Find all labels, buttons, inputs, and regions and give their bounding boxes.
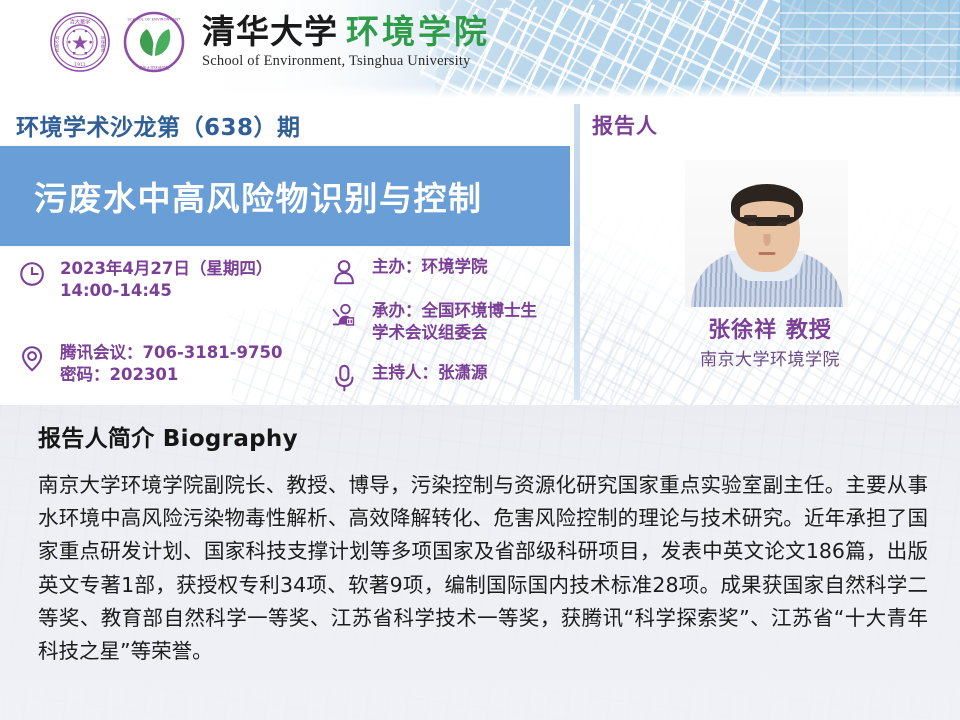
detail-organizer-line2: 学术会议组委会	[372, 322, 537, 344]
detail-venue-line1: 腾讯会议：706-3181-9750	[60, 342, 282, 364]
detail-organizer-line1: 承办：全国环境博士生	[372, 300, 537, 322]
detail-host-text: 主办：环境学院	[372, 256, 488, 278]
hero-bottom-fade	[0, 84, 960, 100]
portrait-hair	[731, 184, 803, 226]
svg-text:厚德载物: 厚德载物	[100, 36, 107, 53]
detail-organizer-text: 承办：全国环境博士生 学术会议组委会	[372, 300, 537, 344]
detail-time-line2: 14:00-14:45	[60, 280, 272, 302]
detail-host-line1: 主办：环境学院	[372, 256, 488, 278]
speaker-portrait	[685, 160, 848, 307]
svg-text:清大華学: 清大華学	[70, 18, 91, 26]
detail-moderator-text: 主持人：张潇源	[372, 362, 488, 384]
speaker-name: 张徐祥 教授	[580, 312, 960, 344]
biography-title: 报告人简介 Biography	[38, 419, 928, 453]
portrait-brow-right	[777, 215, 790, 218]
detail-host: 主办：环境学院	[330, 256, 488, 288]
biography-content: 报告人简介 Biography 南京大学环境学院副院长、教授、博导，污染控制与资…	[38, 419, 928, 668]
svg-text:清华大学环境学院: 清华大学环境学院	[138, 65, 169, 70]
portrait-mouth	[758, 252, 775, 255]
logo-english-name: School of Environment, Tsinghua Universi…	[202, 53, 490, 70]
detail-time-line1: 2023年4月27日（星期四）	[60, 258, 272, 280]
detail-moderator-line1: 主持人：张潇源	[372, 362, 488, 384]
logo-row: 清大華学 1911 自强不息 厚德载物 SCHOOL OF ENVIRONMEN…	[48, 10, 490, 74]
detail-organizer: 承办：全国环境博士生 学术会议组委会	[330, 300, 537, 344]
school-of-environment-seal-icon: SCHOOL OF ENVIRONMENT 清华大学环境学院	[122, 10, 186, 74]
svg-text:自强不息: 自强不息	[54, 36, 61, 53]
portrait-nose	[763, 234, 770, 246]
detail-time-text: 2023年4月27日（星期四） 14:00-14:45	[60, 258, 272, 302]
portrait-brow-left	[744, 215, 757, 218]
tsinghua-university-seal-icon: 清大華学 1911 自强不息 厚德载物	[48, 10, 112, 74]
seminar-poster: 清大華学 1911 自强不息 厚德载物 SCHOOL OF ENVIRONMEN…	[0, 0, 960, 720]
presenter-icon	[330, 300, 360, 332]
seminar-issue-line: 环境学术沙龙第（638）期	[16, 108, 301, 142]
speaker-panel: 报告人 张徐祥 教授 南京大学环境学院	[580, 100, 960, 405]
clock-icon	[18, 258, 48, 290]
portrait-eye-left	[747, 222, 756, 226]
detail-time: 2023年4月27日（星期四） 14:00-14:45	[18, 258, 272, 302]
speaker-section-label: 报告人	[592, 110, 658, 140]
svg-text:1911: 1911	[74, 62, 86, 68]
detail-venue: 腾讯会议：706-3181-9750 密码：202301	[18, 342, 282, 386]
details-grid: 2023年4月27日（星期四） 14:00-14:45 腾讯会议：706-318…	[0, 252, 575, 402]
svg-text:SCHOOL OF ENVIRONMENT: SCHOOL OF ENVIRONMENT	[127, 17, 181, 22]
logo-school-name: 环境学院	[346, 15, 490, 48]
detail-moderator: 主持人：张潇源	[330, 362, 488, 394]
logo-wordmark: 清华大学 环境学院 School of Environment, Tsinghu…	[202, 15, 490, 70]
microphone-icon	[330, 362, 360, 394]
detail-venue-line2: 密码：202301	[60, 364, 282, 386]
location-pin-icon	[18, 342, 48, 374]
detail-venue-text: 腾讯会议：706-3181-9750 密码：202301	[60, 342, 282, 386]
seminar-title: 污废水中高风险物识别与控制	[34, 172, 483, 220]
speaker-affiliation: 南京大学环境学院	[580, 345, 960, 370]
logo-university-name: 清华大学	[202, 15, 338, 48]
biography-text: 南京大学环境学院副院长、教授、博导，污染控制与资源化研究国家重点实验室副主任。主…	[38, 469, 928, 668]
person-icon	[330, 256, 360, 288]
portrait-eye-right	[778, 222, 787, 226]
biography-section: 报告人简介 Biography 南京大学环境学院副院长、教授、博导，污染控制与资…	[0, 405, 960, 720]
seminar-title-bar: 污废水中高风险物识别与控制	[0, 146, 570, 246]
